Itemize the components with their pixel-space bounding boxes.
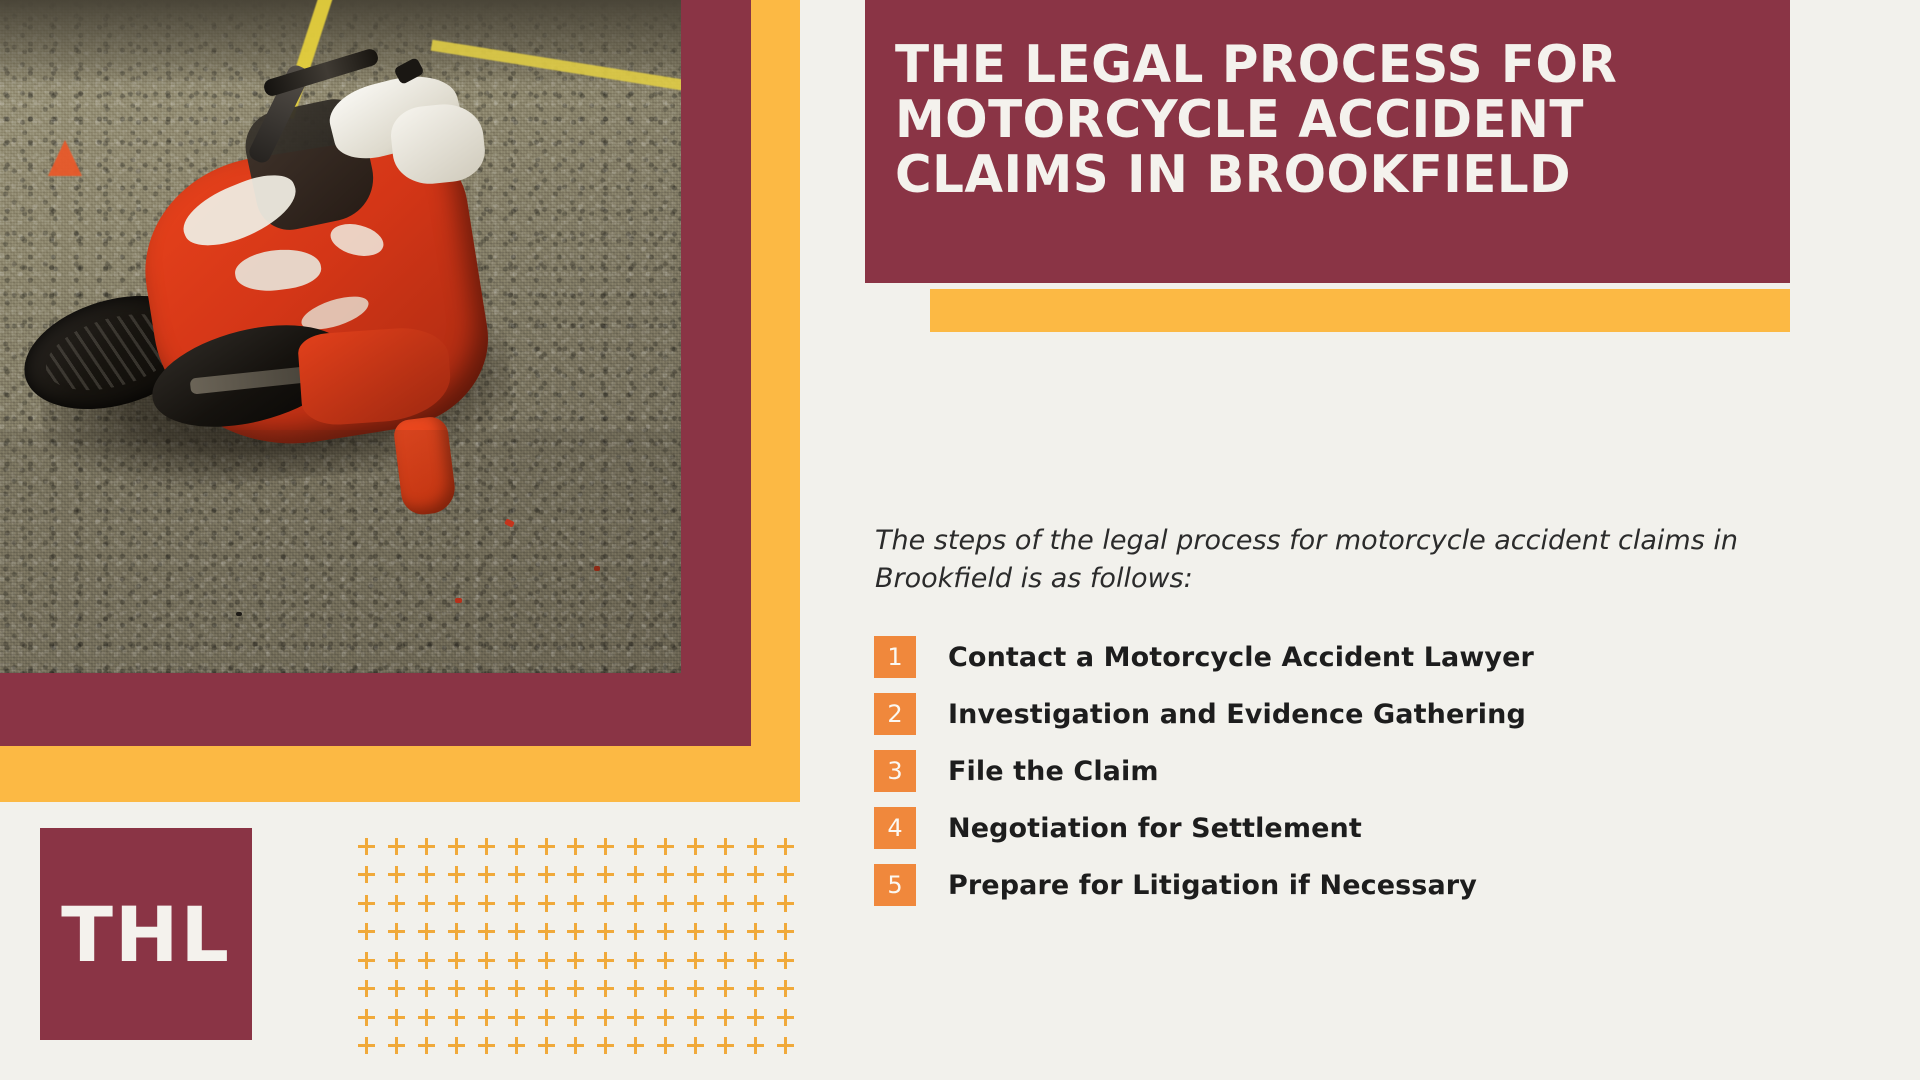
plus-icon [627, 980, 644, 997]
plus-icon [747, 1037, 764, 1054]
plus-icon [358, 895, 375, 912]
plus-icon [747, 923, 764, 940]
plus-icon [687, 923, 704, 940]
plus-icon [657, 866, 674, 883]
motorcycle-accident-photo [0, 0, 681, 673]
plus-icon [597, 952, 614, 969]
plus-icon [478, 980, 495, 997]
plus-icon [538, 866, 555, 883]
plus-icon [567, 952, 584, 969]
plus-icon [567, 923, 584, 940]
plus-icon [657, 1009, 674, 1026]
step-number-badge: 5 [874, 864, 916, 906]
plus-icon [657, 838, 674, 855]
plus-icon [717, 866, 734, 883]
header-block: THE LEGAL PROCESS FOR MOTORCYCLE ACCIDEN… [865, 0, 1790, 283]
plus-icon [657, 952, 674, 969]
plus-icon [597, 1037, 614, 1054]
plus-icon [358, 923, 375, 940]
plus-icon [657, 895, 674, 912]
step-number-badge: 1 [874, 636, 916, 678]
plus-icon [448, 838, 465, 855]
plus-icon [508, 923, 525, 940]
plus-icon [538, 1009, 555, 1026]
plus-icon [777, 895, 794, 912]
plus-icon [538, 952, 555, 969]
plus-icon [597, 980, 614, 997]
plus-icon [478, 923, 495, 940]
plus-icon [388, 980, 405, 997]
plus-icon [747, 952, 764, 969]
infographic-canvas: THE LEGAL PROCESS FOR MOTORCYCLE ACCIDEN… [0, 0, 1920, 1080]
plus-icon [567, 1009, 584, 1026]
step-label: File the Claim [948, 756, 1159, 787]
plus-icon [777, 980, 794, 997]
step-number-badge: 3 [874, 750, 916, 792]
plus-icon [538, 1037, 555, 1054]
plus-icon [538, 895, 555, 912]
header-yellow-underbar [930, 289, 1790, 332]
plus-icon [418, 1009, 435, 1026]
plus-icon [448, 1009, 465, 1026]
plus-icon [657, 980, 674, 997]
plus-icon [478, 952, 495, 969]
thl-logo: THL [40, 828, 252, 1040]
plus-icon [388, 1009, 405, 1026]
step-number-badge: 2 [874, 693, 916, 735]
plus-icon [687, 1009, 704, 1026]
plus-icon [508, 952, 525, 969]
plus-icon [448, 895, 465, 912]
plus-icon [687, 895, 704, 912]
plus-icon [478, 1037, 495, 1054]
plus-icon [388, 838, 405, 855]
plus-icon [597, 923, 614, 940]
plus-icon [717, 952, 734, 969]
plus-icon [448, 1037, 465, 1054]
list-item: 5 Prepare for Litigation if Necessary [874, 864, 1794, 906]
list-item: 1 Contact a Motorcycle Accident Lawyer [874, 636, 1794, 678]
plus-icon [597, 895, 614, 912]
plus-icon [478, 866, 495, 883]
plus-icon [627, 838, 644, 855]
plus-icon [567, 1037, 584, 1054]
plus-icon [717, 923, 734, 940]
plus-icon [508, 980, 525, 997]
steps-list: 1 Contact a Motorcycle Accident Lawyer 2… [874, 636, 1794, 921]
plus-icon [657, 923, 674, 940]
plus-icon [567, 895, 584, 912]
plus-icon [418, 952, 435, 969]
plus-icon [418, 923, 435, 940]
plus-icon [567, 866, 584, 883]
plus-icon [627, 1037, 644, 1054]
plus-icon [418, 895, 435, 912]
plus-icon [777, 1009, 794, 1026]
plus-icon [567, 838, 584, 855]
plus-icon [777, 1037, 794, 1054]
plus-icon [567, 980, 584, 997]
plus-icon [418, 980, 435, 997]
plus-icon [717, 1009, 734, 1026]
plus-icon [418, 1037, 435, 1054]
plus-icon [478, 838, 495, 855]
plus-icon [358, 1037, 375, 1054]
plus-icon [448, 923, 465, 940]
photo-bottom-shade [0, 430, 681, 673]
plus-icon [508, 866, 525, 883]
plus-icon [747, 1009, 764, 1026]
list-item: 4 Negotiation for Settlement [874, 807, 1794, 849]
plus-icon [717, 1037, 734, 1054]
step-label: Negotiation for Settlement [948, 813, 1362, 844]
plus-icon [538, 923, 555, 940]
plus-icon [358, 838, 375, 855]
plus-icon [627, 895, 644, 912]
plus-icon [777, 866, 794, 883]
plus-icon [418, 838, 435, 855]
plus-icon [747, 866, 764, 883]
plus-icon [538, 980, 555, 997]
plus-icon [597, 838, 614, 855]
vertical-yellow-accent [751, 0, 800, 746]
plus-icon [538, 838, 555, 855]
plus-icon [358, 1009, 375, 1026]
plus-pattern-decoration [352, 832, 800, 1060]
plus-icon [388, 952, 405, 969]
plus-icon [747, 980, 764, 997]
plus-icon [687, 980, 704, 997]
plus-icon [508, 1037, 525, 1054]
plus-icon [717, 980, 734, 997]
step-label: Contact a Motorcycle Accident Lawyer [948, 642, 1534, 673]
photo-upper-shade [0, 0, 681, 90]
horizontal-maroon-band [0, 673, 751, 746]
plus-icon [508, 1009, 525, 1026]
plus-icon [657, 1037, 674, 1054]
plus-icon [597, 1009, 614, 1026]
plus-icon [627, 1009, 644, 1026]
plus-icon [358, 980, 375, 997]
plus-icon [777, 923, 794, 940]
step-label: Prepare for Litigation if Necessary [948, 870, 1477, 901]
traffic-cone-icon [48, 140, 82, 176]
list-item: 3 File the Claim [874, 750, 1794, 792]
horizontal-yellow-band [0, 746, 800, 802]
plus-icon [388, 895, 405, 912]
plus-icon [388, 1037, 405, 1054]
plus-icon [358, 866, 375, 883]
plus-icon [717, 895, 734, 912]
plus-icon [448, 980, 465, 997]
plus-icon [478, 1009, 495, 1026]
logo-text: THL [40, 828, 252, 1040]
step-label: Investigation and Evidence Gathering [948, 699, 1526, 730]
plus-icon [627, 866, 644, 883]
step-number-badge: 4 [874, 807, 916, 849]
plus-icon [717, 838, 734, 855]
plus-icon [508, 838, 525, 855]
plus-icon [777, 952, 794, 969]
vertical-maroon-accent [681, 0, 751, 673]
page-title: THE LEGAL PROCESS FOR MOTORCYCLE ACCIDEN… [895, 38, 1730, 203]
plus-icon [627, 952, 644, 969]
plus-icon [687, 952, 704, 969]
plus-icon [747, 838, 764, 855]
plus-icon [687, 838, 704, 855]
plus-icon [777, 838, 794, 855]
plus-icon [597, 866, 614, 883]
intro-paragraph: The steps of the legal process for motor… [875, 522, 1785, 599]
plus-icon [358, 952, 375, 969]
plus-icon [627, 923, 644, 940]
plus-icon [388, 923, 405, 940]
plus-icon [687, 866, 704, 883]
plus-icon [747, 895, 764, 912]
list-item: 2 Investigation and Evidence Gathering [874, 693, 1794, 735]
plus-icon [508, 895, 525, 912]
plus-icon [388, 866, 405, 883]
plus-icon [448, 866, 465, 883]
plus-icon [687, 1037, 704, 1054]
plus-icon [448, 952, 465, 969]
plus-icon [478, 895, 495, 912]
plus-icon [418, 866, 435, 883]
